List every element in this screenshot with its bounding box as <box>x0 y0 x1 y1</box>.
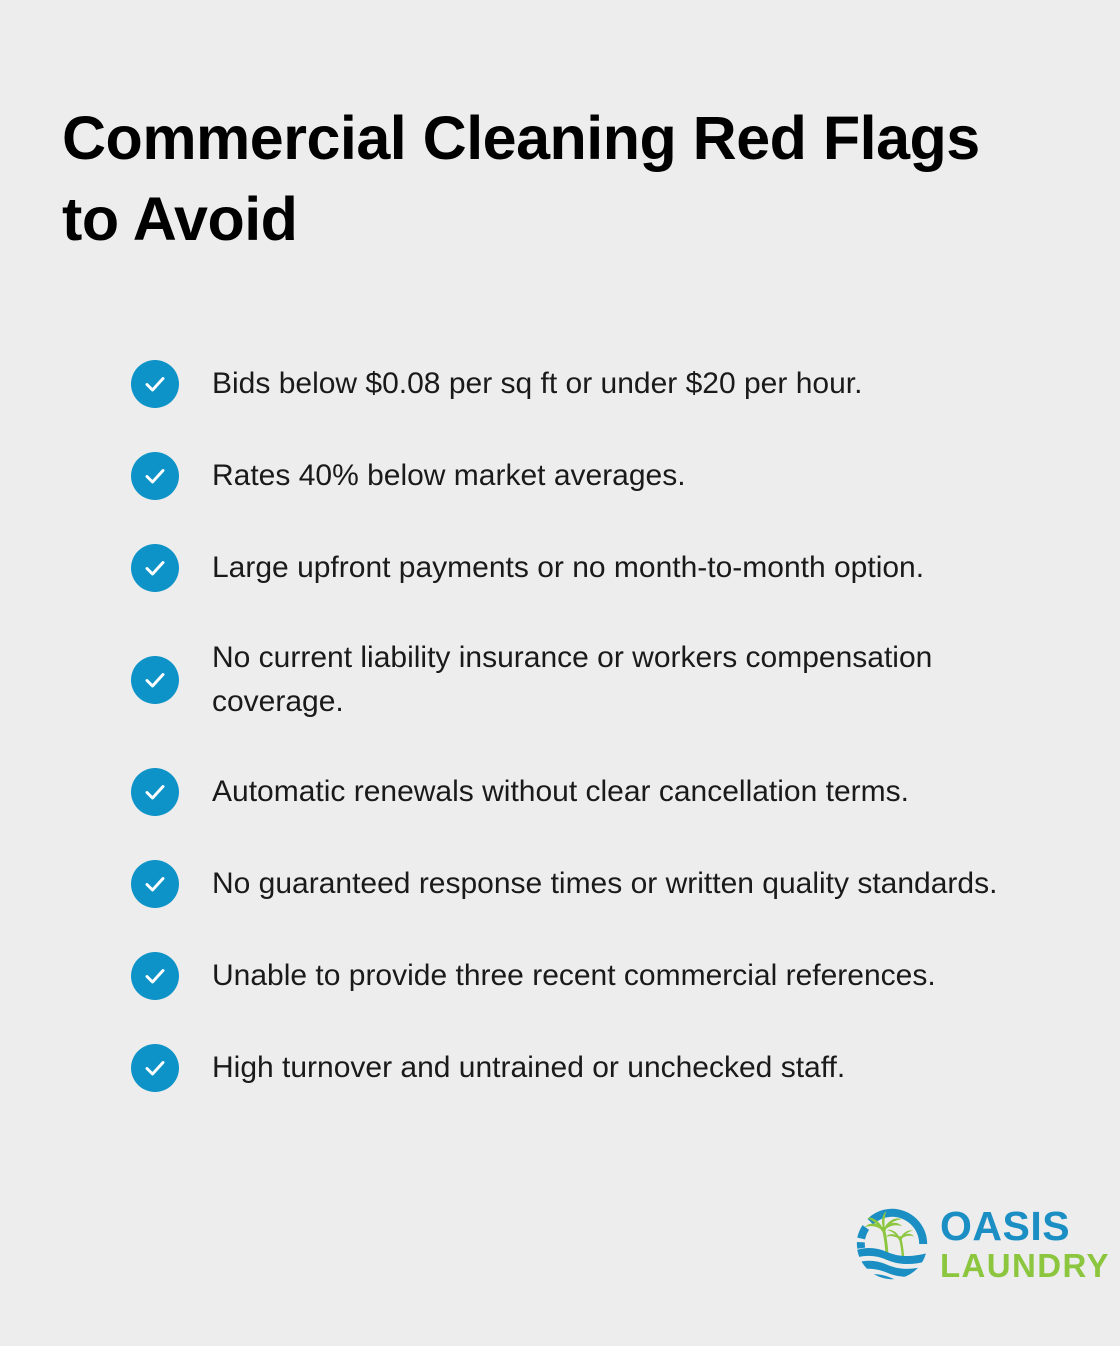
page-title: Commercial Cleaning Red Flags to Avoid <box>62 98 1072 260</box>
list-item: Rates 40% below market averages. <box>131 452 1071 500</box>
check-circle-icon <box>131 656 179 704</box>
list-item-label: No guaranteed response times or written … <box>212 862 997 906</box>
check-circle-icon <box>131 544 179 592</box>
list-item-label: Bids below $0.08 per sq ft or under $20 … <box>212 362 862 406</box>
infographic-poster: Commercial Cleaning Red Flags to Avoid B… <box>0 0 1120 1346</box>
list-item: No current liability insurance or worker… <box>131 636 1071 724</box>
list-item-label: No current liability insurance or worker… <box>212 636 1042 724</box>
list-item-label: Rates 40% below market averages. <box>212 454 686 498</box>
logo-wordmark: OASIS LAUNDRY <box>940 1206 1110 1282</box>
red-flags-checklist: Bids below $0.08 per sq ft or under $20 … <box>131 360 1071 1092</box>
list-item: Automatic renewals without clear cancell… <box>131 768 1071 816</box>
list-item: Bids below $0.08 per sq ft or under $20 … <box>131 360 1071 408</box>
check-circle-icon <box>131 952 179 1000</box>
list-item: High turnover and untrained or unchecked… <box>131 1044 1071 1092</box>
list-item-label: High turnover and untrained or unchecked… <box>212 1046 845 1090</box>
list-item-label: Unable to provide three recent commercia… <box>212 954 936 998</box>
list-item-label: Automatic renewals without clear cancell… <box>212 770 909 814</box>
list-item: No guaranteed response times or written … <box>131 860 1071 908</box>
list-item: Large upfront payments or no month-to-mo… <box>131 544 1071 592</box>
oasis-laundry-logo: OASIS LAUNDRY <box>852 1198 1064 1290</box>
check-circle-icon <box>131 1044 179 1092</box>
check-circle-icon <box>131 452 179 500</box>
logo-primary-word: OASIS <box>940 1206 1110 1247</box>
check-circle-icon <box>131 768 179 816</box>
check-circle-icon <box>131 360 179 408</box>
logo-secondary-word: LAUNDRY <box>940 1249 1110 1282</box>
oasis-palm-wave-emblem-icon <box>852 1204 932 1284</box>
list-item-label: Large upfront payments or no month-to-mo… <box>212 546 924 590</box>
check-circle-icon <box>131 860 179 908</box>
list-item: Unable to provide three recent commercia… <box>131 952 1071 1000</box>
